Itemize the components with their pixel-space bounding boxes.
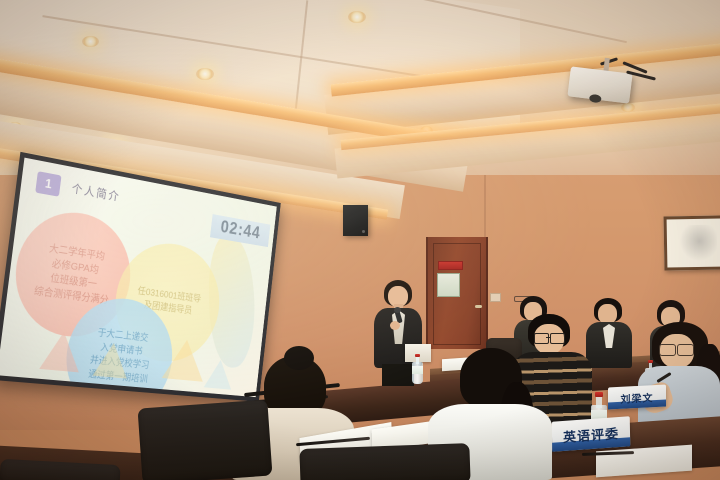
hair-bun — [284, 346, 314, 370]
calligraphy-ink — [673, 225, 718, 262]
exit-sign-red-icon — [438, 261, 463, 270]
bottle-neck — [416, 356, 420, 364]
bottle-cap — [595, 392, 602, 397]
skirt — [382, 364, 414, 386]
microphone-head — [394, 307, 401, 313]
chair[interactable] — [299, 443, 470, 480]
bottle-label — [412, 366, 423, 374]
glasses-bridge — [546, 337, 551, 338]
paper-sheet — [596, 445, 692, 478]
water-bottle — [412, 354, 423, 384]
face — [598, 304, 617, 324]
slide-triangle-decor — [204, 358, 235, 389]
slide-title: 个人简介 — [71, 180, 121, 205]
notice-sign-green-icon — [437, 273, 460, 297]
glasses-icon — [659, 344, 676, 356]
bottle-cap — [415, 354, 420, 357]
wall-outlet-icon — [490, 293, 501, 302]
chair[interactable] — [138, 400, 273, 480]
judge-back-2 — [586, 298, 632, 368]
framed-calligraphy — [664, 215, 720, 270]
downlight-icon — [348, 11, 366, 23]
wall-speaker-icon — [343, 205, 368, 236]
nameplate-text: 刘梁文 — [621, 389, 654, 406]
hand — [390, 321, 400, 330]
downlight-icon — [196, 68, 214, 80]
conference-room-photo: 1 个人简介 02:44 大二学年平均 必修GPA均 位班级第一 综合测评得分满… — [0, 0, 720, 480]
slide-triangle-decor — [162, 338, 208, 382]
nameplate-text: 英语评委 — [563, 423, 619, 446]
glasses-icon — [534, 333, 549, 344]
nameplate-liu: 刘梁文 — [608, 384, 666, 409]
door-handle[interactable] — [475, 305, 482, 308]
downlight-icon — [82, 36, 99, 47]
nameplate-english-judge: 英语评委 — [552, 416, 631, 451]
speaker-led — [362, 230, 365, 233]
glasses-icon — [550, 333, 565, 344]
wooden-door[interactable] — [426, 237, 488, 349]
slide-canvas: 1 个人简介 02:44 大二学年平均 必修GPA均 位班级第一 综合测评得分满… — [0, 158, 277, 398]
downlight-icon — [621, 103, 635, 112]
bottle-neck — [596, 396, 602, 408]
slide-triangle-decor — [39, 330, 83, 373]
slide-triangle-decor — [93, 341, 131, 378]
glasses-icon — [677, 344, 694, 356]
slide-number-badge: 1 — [35, 171, 61, 197]
